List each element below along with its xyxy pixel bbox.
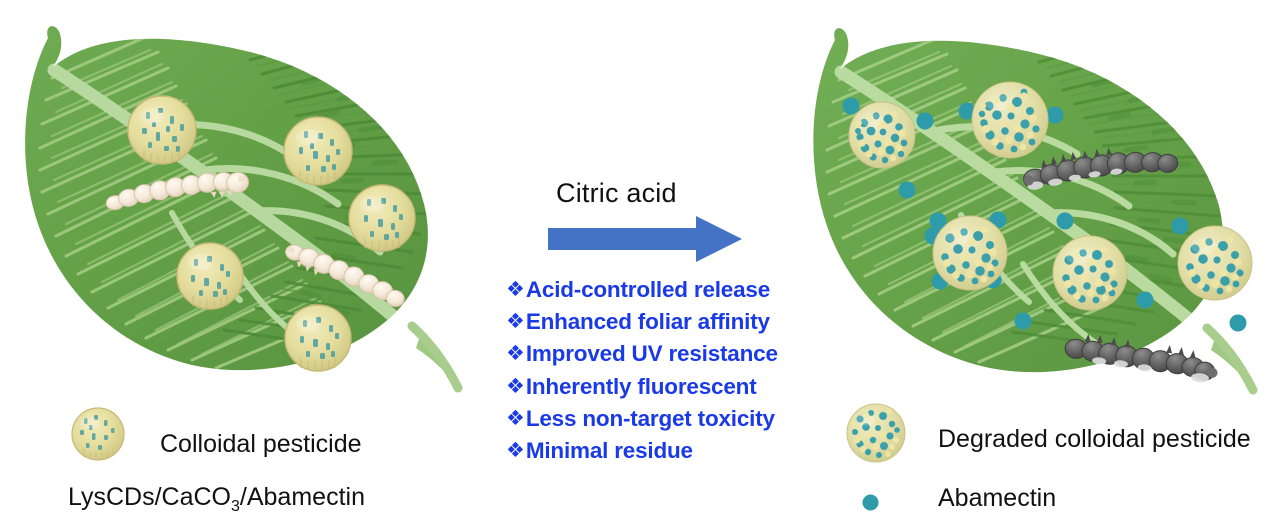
- list-item: ❖ Enhanced foliar affinity: [506, 310, 836, 333]
- list-item: ❖ Inherently fluorescent: [506, 375, 836, 398]
- list-item: ❖ Minimal residue: [506, 439, 836, 462]
- formula-suffix: /Abamectin: [240, 483, 365, 511]
- list-item: ❖ Acid-controlled release: [506, 278, 836, 301]
- list-item-label: Acid-controlled release: [526, 278, 770, 301]
- formula-subscript: 3: [231, 498, 240, 515]
- degraded-colloidal-pesticide-sphere-icon: [845, 402, 907, 464]
- benefits-list: ❖ Acid-controlled release ❖ Enhanced fol…: [506, 278, 836, 471]
- list-item-label: Inherently fluorescent: [526, 375, 757, 398]
- legend-colloidal-pesticide-label: Colloidal pesticide: [160, 430, 362, 459]
- diamond-bullet-icon: ❖: [506, 408, 525, 429]
- formula-prefix: LysCDs/CaCO: [68, 483, 231, 511]
- list-item: ❖ Less non-target toxicity: [506, 407, 836, 430]
- diamond-bullet-icon: ❖: [506, 279, 525, 300]
- leaf-icon: [795, 8, 1275, 408]
- left-leaf-panel: [0, 8, 470, 408]
- citric-acid-label: Citric acid: [556, 178, 746, 209]
- right-arrow-icon: [546, 214, 746, 266]
- graphical-abstract-canvas: Citric acid ❖ Acid-controlled release ❖ …: [0, 0, 1280, 528]
- diamond-bullet-icon: ❖: [506, 343, 525, 364]
- diamond-bullet-icon: ❖: [506, 376, 525, 397]
- legend-abamectin-label: Abamectin: [938, 484, 1056, 513]
- legend-formula: LysCDs/CaCO3/Abamectin: [68, 483, 365, 516]
- list-item-label: Enhanced foliar affinity: [526, 310, 770, 333]
- leaf-icon: [0, 8, 470, 408]
- list-item-label: Less non-target toxicity: [526, 407, 775, 430]
- right-leaf-panel: [795, 8, 1275, 408]
- list-item: ❖ Improved UV resistance: [506, 342, 836, 365]
- legend-degraded-colloidal-pesticide-label: Degraded colloidal pesticide: [938, 425, 1251, 454]
- list-item-label: Minimal residue: [526, 439, 693, 462]
- colloidal-pesticide-sphere-icon: [70, 406, 126, 462]
- list-item-label: Improved UV resistance: [526, 342, 778, 365]
- abamectin-dot-icon: [862, 494, 879, 511]
- diamond-bullet-icon: ❖: [506, 440, 525, 461]
- diamond-bullet-icon: ❖: [506, 311, 525, 332]
